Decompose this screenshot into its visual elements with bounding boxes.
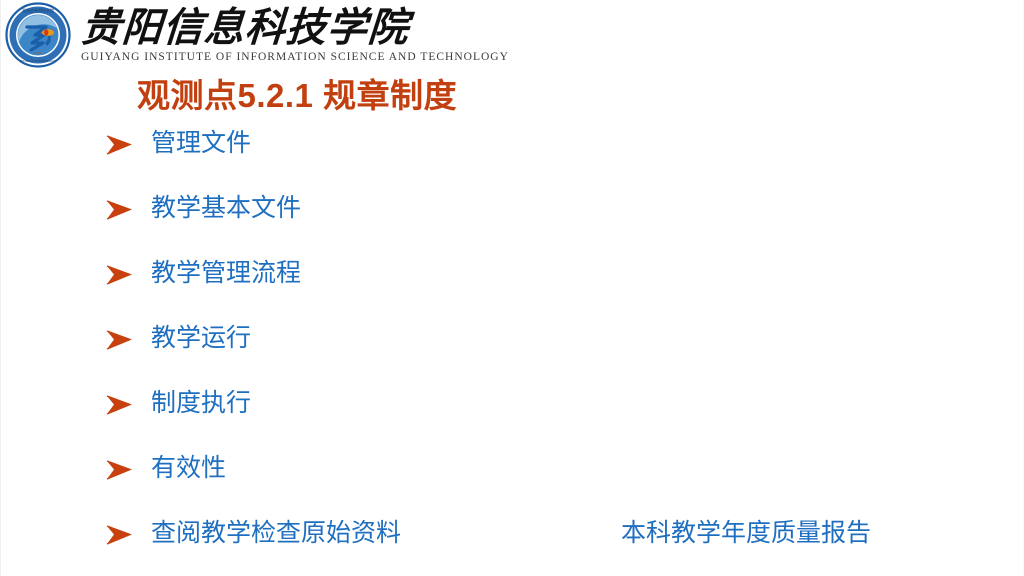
list-item-label: 管理文件: [151, 128, 251, 158]
arrow-bullet-icon: [105, 263, 151, 293]
arrow-bullet-icon: [105, 198, 151, 228]
emblem-year: 2001: [35, 51, 42, 55]
list-item-label: 教学管理流程: [151, 258, 301, 288]
guiyang-institute-emblem-icon: 贵阳信息科技学院 INSTITUTE OF INFORMATION 2001: [5, 2, 71, 68]
list-item: 制度执行: [105, 388, 985, 453]
list-item-label: 制度执行: [151, 388, 251, 418]
svg-text:INSTITUTE OF INFORMATION: INSTITUTE OF INFORMATION: [20, 60, 56, 63]
list-item: 有效性: [105, 453, 985, 518]
list-item-label: 教学运行: [151, 323, 251, 353]
list-item: 教学管理流程: [105, 258, 985, 323]
list-item: 教学基本文件: [105, 193, 985, 258]
institution-name-en: GUIYANG INSTITUTE OF INFORMATION SCIENCE…: [81, 50, 509, 64]
arrow-bullet-icon: [105, 133, 151, 163]
institution-branding: 贵阳信息科技学院 INSTITUTE OF INFORMATION 2001 贵…: [5, 2, 509, 68]
arrow-bullet-icon: [105, 393, 151, 423]
arrow-bullet-icon: [105, 523, 151, 553]
list-item-aside-label: 本科教学年度质量报告: [621, 518, 871, 548]
bullet-list: 管理文件 教学基本文件 教学管理流程: [105, 128, 985, 576]
list-item: 管理文件: [105, 128, 985, 193]
list-item-label: 教学基本文件: [151, 193, 301, 223]
presentation-slide: 贵阳信息科技学院 INSTITUTE OF INFORMATION 2001 贵…: [0, 0, 1024, 576]
arrow-bullet-icon: [105, 458, 151, 488]
institution-wordmark: 贵阳信息科技学院 GUIYANG INSTITUTE OF INFORMATIO…: [81, 7, 509, 64]
slide-title: 观测点5.2.1 规章制度: [137, 76, 457, 116]
institution-name-cn: 贵阳信息科技学院: [80, 7, 511, 49]
list-item-label: 查阅教学检查原始资料: [151, 518, 451, 548]
list-item-label: 有效性: [151, 453, 226, 483]
list-item: 查阅教学检查原始资料 本科教学年度质量报告: [105, 518, 985, 576]
svg-text:贵阳信息科技学院: 贵阳信息科技学院: [22, 7, 54, 13]
list-item: 教学运行: [105, 323, 985, 388]
arrow-bullet-icon: [105, 328, 151, 358]
